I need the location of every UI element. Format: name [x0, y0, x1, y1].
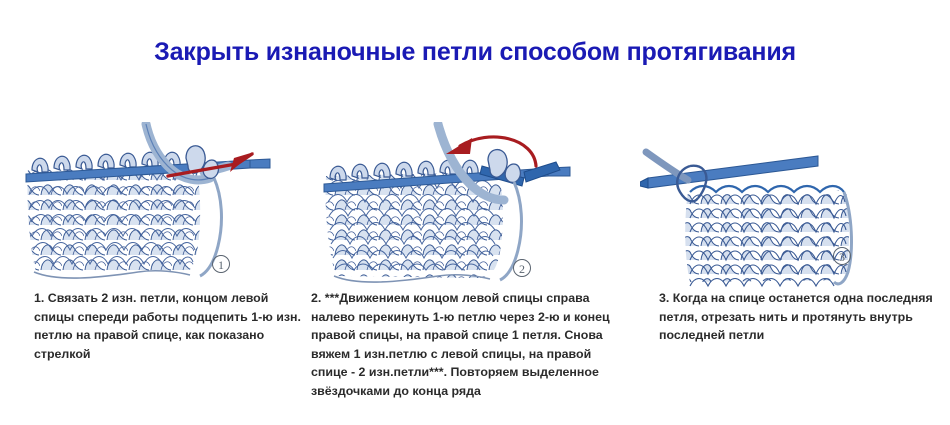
caption-step-2: 2. ***Движением концом левой спицы справ…	[311, 289, 611, 401]
caption-step-3: 3. Когда на спице останется одна последн…	[659, 289, 939, 345]
caption-block: 1. Связать 2 изн. петли, концом левой сп…	[0, 289, 950, 399]
caption-step-1: 1. Связать 2 изн. петли, концом левой сп…	[34, 289, 302, 363]
diagram-panel-2: 2 ②	[312, 122, 612, 292]
diagram-panels: 1 ①	[0, 122, 950, 292]
needle-3	[640, 152, 818, 188]
instruction-page: Закрыть изнаночные петли способом протяг…	[0, 0, 950, 425]
diagram-panel-1: 1 ①	[18, 122, 308, 292]
page-title: Закрыть изнаночные петли способом протяг…	[0, 38, 950, 67]
svg-text:1: 1	[218, 258, 224, 272]
knitted-fabric-1	[27, 166, 200, 278]
step-number-2: 2	[514, 260, 531, 277]
bind-off-edge-3	[690, 186, 844, 192]
diagram-panel-3: 3 ③	[640, 122, 935, 292]
step-number-1: 1	[213, 256, 230, 273]
knitted-fabric-3	[685, 186, 851, 286]
svg-text:3: 3	[839, 250, 845, 264]
svg-text:2: 2	[519, 262, 525, 276]
